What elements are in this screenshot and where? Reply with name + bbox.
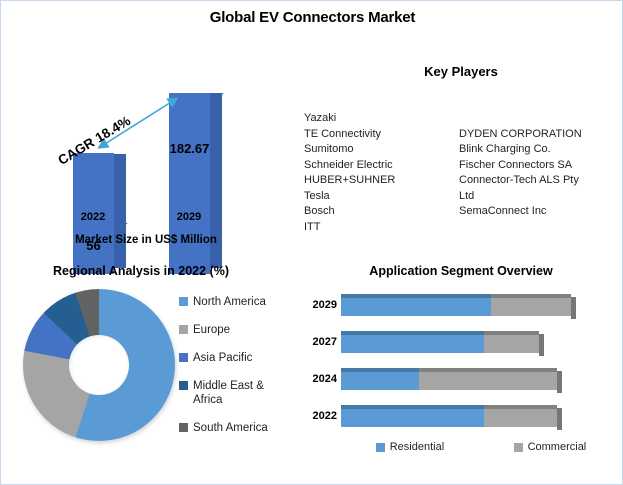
key-player-item: TE Connectivity	[304, 127, 459, 143]
app-segment-top-shade	[491, 294, 572, 298]
app-stacked-bar	[341, 405, 557, 427]
legend-label: Residential	[390, 441, 444, 453]
market-size-chart: 56 182.67 CAGR 18.4% 2022 2029 Market Si…	[1, 71, 291, 251]
key-players-column-left: Yazaki TE Connectivity Sumitomo Schneide…	[304, 111, 459, 235]
key-player-item: Yazaki	[304, 111, 459, 127]
app-bar-row: 2022	[301, 400, 621, 437]
key-player-item: SemaConnect Inc	[459, 204, 623, 220]
app-segment-top-shade	[341, 368, 419, 372]
legend-label: Middle East & Africa	[193, 379, 294, 407]
app-segment-residential	[341, 368, 419, 390]
bar-xlabel-2022: 2022	[63, 211, 123, 223]
legend-swatch-icon	[179, 325, 188, 334]
key-player-item: HUBER+SUHNER	[304, 173, 459, 189]
app-segment-top-shade	[341, 331, 484, 335]
app-segment-residential	[341, 331, 484, 353]
cagr-arrow-icon	[1, 71, 291, 251]
key-player-item: ITT	[304, 220, 459, 236]
key-player-item: Ltd	[459, 189, 623, 205]
app-stacked-bar	[341, 331, 539, 353]
app-segment-residential	[341, 294, 491, 316]
legend-swatch-icon	[514, 443, 523, 452]
app-stacked-bar	[341, 368, 557, 390]
page-title: Global EV Connectors Market	[1, 9, 623, 26]
app-segment-commercial	[484, 331, 539, 353]
regional-analysis-title: Regional Analysis in 2022 (%)	[11, 264, 271, 278]
legend-swatch-icon	[179, 381, 188, 390]
app-segment-top-shade	[419, 368, 557, 372]
app-bar-endcap	[571, 297, 576, 319]
legend-item-commercial: Commercial	[514, 441, 587, 453]
key-player-item: Schneider Electric	[304, 158, 459, 174]
legend-swatch-icon	[179, 297, 188, 306]
app-bar-endcap	[539, 334, 544, 356]
app-bar-row: 2029	[301, 289, 621, 326]
app-segment-commercial	[484, 405, 558, 427]
key-players-column-right: DYDEN CORPORATION Blink Charging Co. Fis…	[459, 111, 623, 235]
legend-item-middle-east-africa: Middle East & Africa	[179, 379, 294, 407]
application-segment-rows: 2029 2027	[301, 289, 621, 437]
app-segment-top-shade	[341, 294, 491, 298]
application-segment-chart: Application Segment Overview 2029	[301, 259, 621, 484]
key-player-item: Sumitomo	[304, 142, 459, 158]
legend-label: South America	[193, 421, 268, 435]
app-bar-endcap	[557, 408, 562, 430]
legend-swatch-icon	[179, 423, 188, 432]
app-segment-residential	[341, 405, 484, 427]
key-player-item: Blink Charging Co.	[459, 142, 623, 158]
key-player-item: Tesla	[304, 189, 459, 205]
app-stacked-bar	[341, 294, 571, 316]
donut-chart	[23, 289, 178, 447]
legend-item-north-america: North America	[179, 295, 294, 309]
legend-item-asia-pacific: Asia Pacific	[179, 351, 294, 365]
market-size-caption: Market Size in US$ Million	[1, 234, 291, 246]
legend-label: Commercial	[528, 441, 587, 453]
legend-item-europe: Europe	[179, 323, 294, 337]
legend-item-residential: Residential	[376, 441, 444, 453]
key-player-item: Fischer Connectors SA	[459, 158, 623, 174]
app-segment-commercial	[419, 368, 557, 390]
infographic-page: Global EV Connectors Market 56 182.67	[0, 0, 623, 485]
application-segment-title: Application Segment Overview	[301, 264, 621, 278]
legend-label: Asia Pacific	[193, 351, 252, 365]
legend-label: Europe	[193, 323, 230, 337]
legend-swatch-icon	[179, 353, 188, 362]
app-segment-commercial	[491, 294, 572, 316]
app-row-label: 2029	[301, 299, 337, 311]
key-players-list: Yazaki TE Connectivity Sumitomo Schneide…	[304, 111, 623, 235]
app-segment-top-shade	[484, 331, 539, 335]
legend-label: North America	[193, 295, 266, 309]
bar-xlabel-2029: 2029	[159, 211, 219, 223]
app-bar-row: 2024	[301, 363, 621, 400]
key-players-heading: Key Players	[301, 64, 621, 79]
app-bar-endcap	[557, 371, 562, 393]
key-player-item: Connector-Tech ALS Pty	[459, 173, 623, 189]
donut-center-hole	[69, 335, 129, 395]
app-segment-top-shade	[341, 405, 484, 409]
app-row-label: 2022	[301, 410, 337, 422]
legend-item-south-america: South America	[179, 421, 294, 435]
key-player-item: DYDEN CORPORATION	[459, 127, 623, 143]
app-row-label: 2027	[301, 336, 337, 348]
app-row-label: 2024	[301, 373, 337, 385]
regional-analysis-chart: Regional Analysis in 2022 (%) North Amer…	[11, 259, 296, 484]
legend-swatch-icon	[376, 443, 385, 452]
regional-legend: North America Europe Asia Pacific Middle…	[179, 295, 294, 449]
application-legend: Residential Commercial	[341, 441, 621, 453]
app-bar-row: 2027	[301, 326, 621, 363]
app-segment-top-shade	[484, 405, 558, 409]
key-player-item: Bosch	[304, 204, 459, 220]
